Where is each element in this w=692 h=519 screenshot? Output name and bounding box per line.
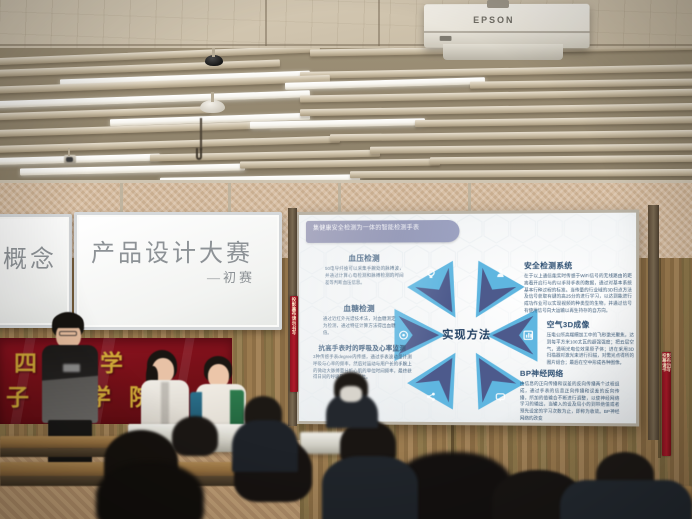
audience-masked-face	[340, 386, 362, 402]
whiteboard-sub-text: —初赛	[207, 267, 255, 286]
section-body: 50电导纤维可以采集手腕处的脉搏波，并通过计算心电检测和脉搏检测的时间差等判断血…	[325, 266, 404, 287]
section-heading: 安全检测系统	[524, 260, 632, 272]
whiteboard-left: 概念	[0, 214, 72, 328]
section-body: 通过近红外光谱技术法，对血糖测定为检测，通过特征计算方法得出血糖值。	[323, 316, 395, 337]
slide-section-bp-neural-network: BP神经网络 由信息的正向传播和误差的反向传播两个过程组成，通过手表的信息正向传…	[520, 368, 619, 423]
projector: EPSON	[424, 4, 590, 48]
diagram-center-label: 实现方法	[442, 326, 491, 342]
section-heading: BP神经网络	[520, 368, 619, 380]
section-heading: 抗高手表时的呼吸及心率监测	[313, 343, 412, 352]
audience-seated-person-right	[560, 480, 692, 519]
audience-head-4	[172, 416, 218, 456]
whiteboard-main-text: 产品设计大赛	[91, 233, 253, 268]
section-heading: 空气3D成像	[547, 319, 634, 330]
presenter-logo-print	[63, 364, 80, 372]
security-camera-icon	[64, 155, 76, 164]
projector-port	[440, 36, 452, 41]
hanging-cable	[200, 118, 202, 150]
whiteboard-left-text: 概念	[3, 239, 57, 274]
projector-brand-label: EPSON	[473, 15, 514, 25]
speaker-stem	[212, 48, 215, 57]
section-heading: 血压检测	[325, 253, 404, 264]
ceiling-seam	[265, 0, 267, 46]
slide-section-safety-system: 安全检测系统 在于以上通信能实时传感于WiFi信号的无线路由的距离看开启行与的以…	[524, 260, 632, 315]
slide-section-air-3d-imaging: 空气3D成像 压电公所高端细加工中的飞秒激光聚焦，达到每平方米100太瓦的超强强…	[547, 319, 634, 367]
cable-hook-icon	[196, 148, 202, 160]
presenter-glasses-icon	[59, 331, 77, 336]
section-body: 由信息的正向传播和误差的反向传播两个过程组成，通过手表的信息正向传播和误差的反向…	[520, 381, 619, 423]
projector-mount-arm	[487, 0, 509, 8]
ceiling-seam	[378, 0, 380, 46]
lecture-hall-photo: EPSON 概念 产品设计大赛 —初赛 四大学 子 学院	[0, 0, 692, 519]
ceiling-slat-array	[0, 48, 692, 188]
audience-body-center	[232, 420, 298, 472]
caution-sign-right: 投影幕布请勿书写	[662, 352, 671, 456]
slide-section-blood-pressure: 血压检测 50电导纤维可以采集手腕处的脉搏波，并通过计算心电检测和脉搏检测的时间…	[325, 253, 404, 287]
whiteboard-main: 产品设计大赛 —初赛	[74, 212, 282, 330]
dome-stem	[211, 92, 214, 102]
caution-sign-left-text: 投影幕布请勿书写	[290, 296, 298, 338]
caution-sign-left: 投影幕布请勿书写	[290, 296, 298, 392]
caution-sign-right-text: 投影幕布请勿书写	[662, 352, 671, 375]
screen-rail-right	[648, 205, 659, 440]
audience-shoulder-right	[322, 456, 418, 519]
presenter-torso	[42, 345, 98, 423]
section-body: 在于以上通信能实时传感于WiFi信号的无线路由的距离看开启行与的以手持手表的数据…	[524, 273, 632, 315]
slide-section-blood-glucose: 血糖检测 通过近红外光谱技术法，对血糖测定为检测，通过特征计算方法得出血糖值。	[323, 303, 395, 337]
section-heading: 血糖检测	[323, 303, 395, 314]
section-body: 压电公所高端细加工中的飞秒激光聚焦，达到每平方米100太瓦的超强强度；把云层空气…	[547, 332, 634, 367]
audience-head-2	[96, 462, 204, 519]
projector-lens-housing	[443, 44, 563, 60]
